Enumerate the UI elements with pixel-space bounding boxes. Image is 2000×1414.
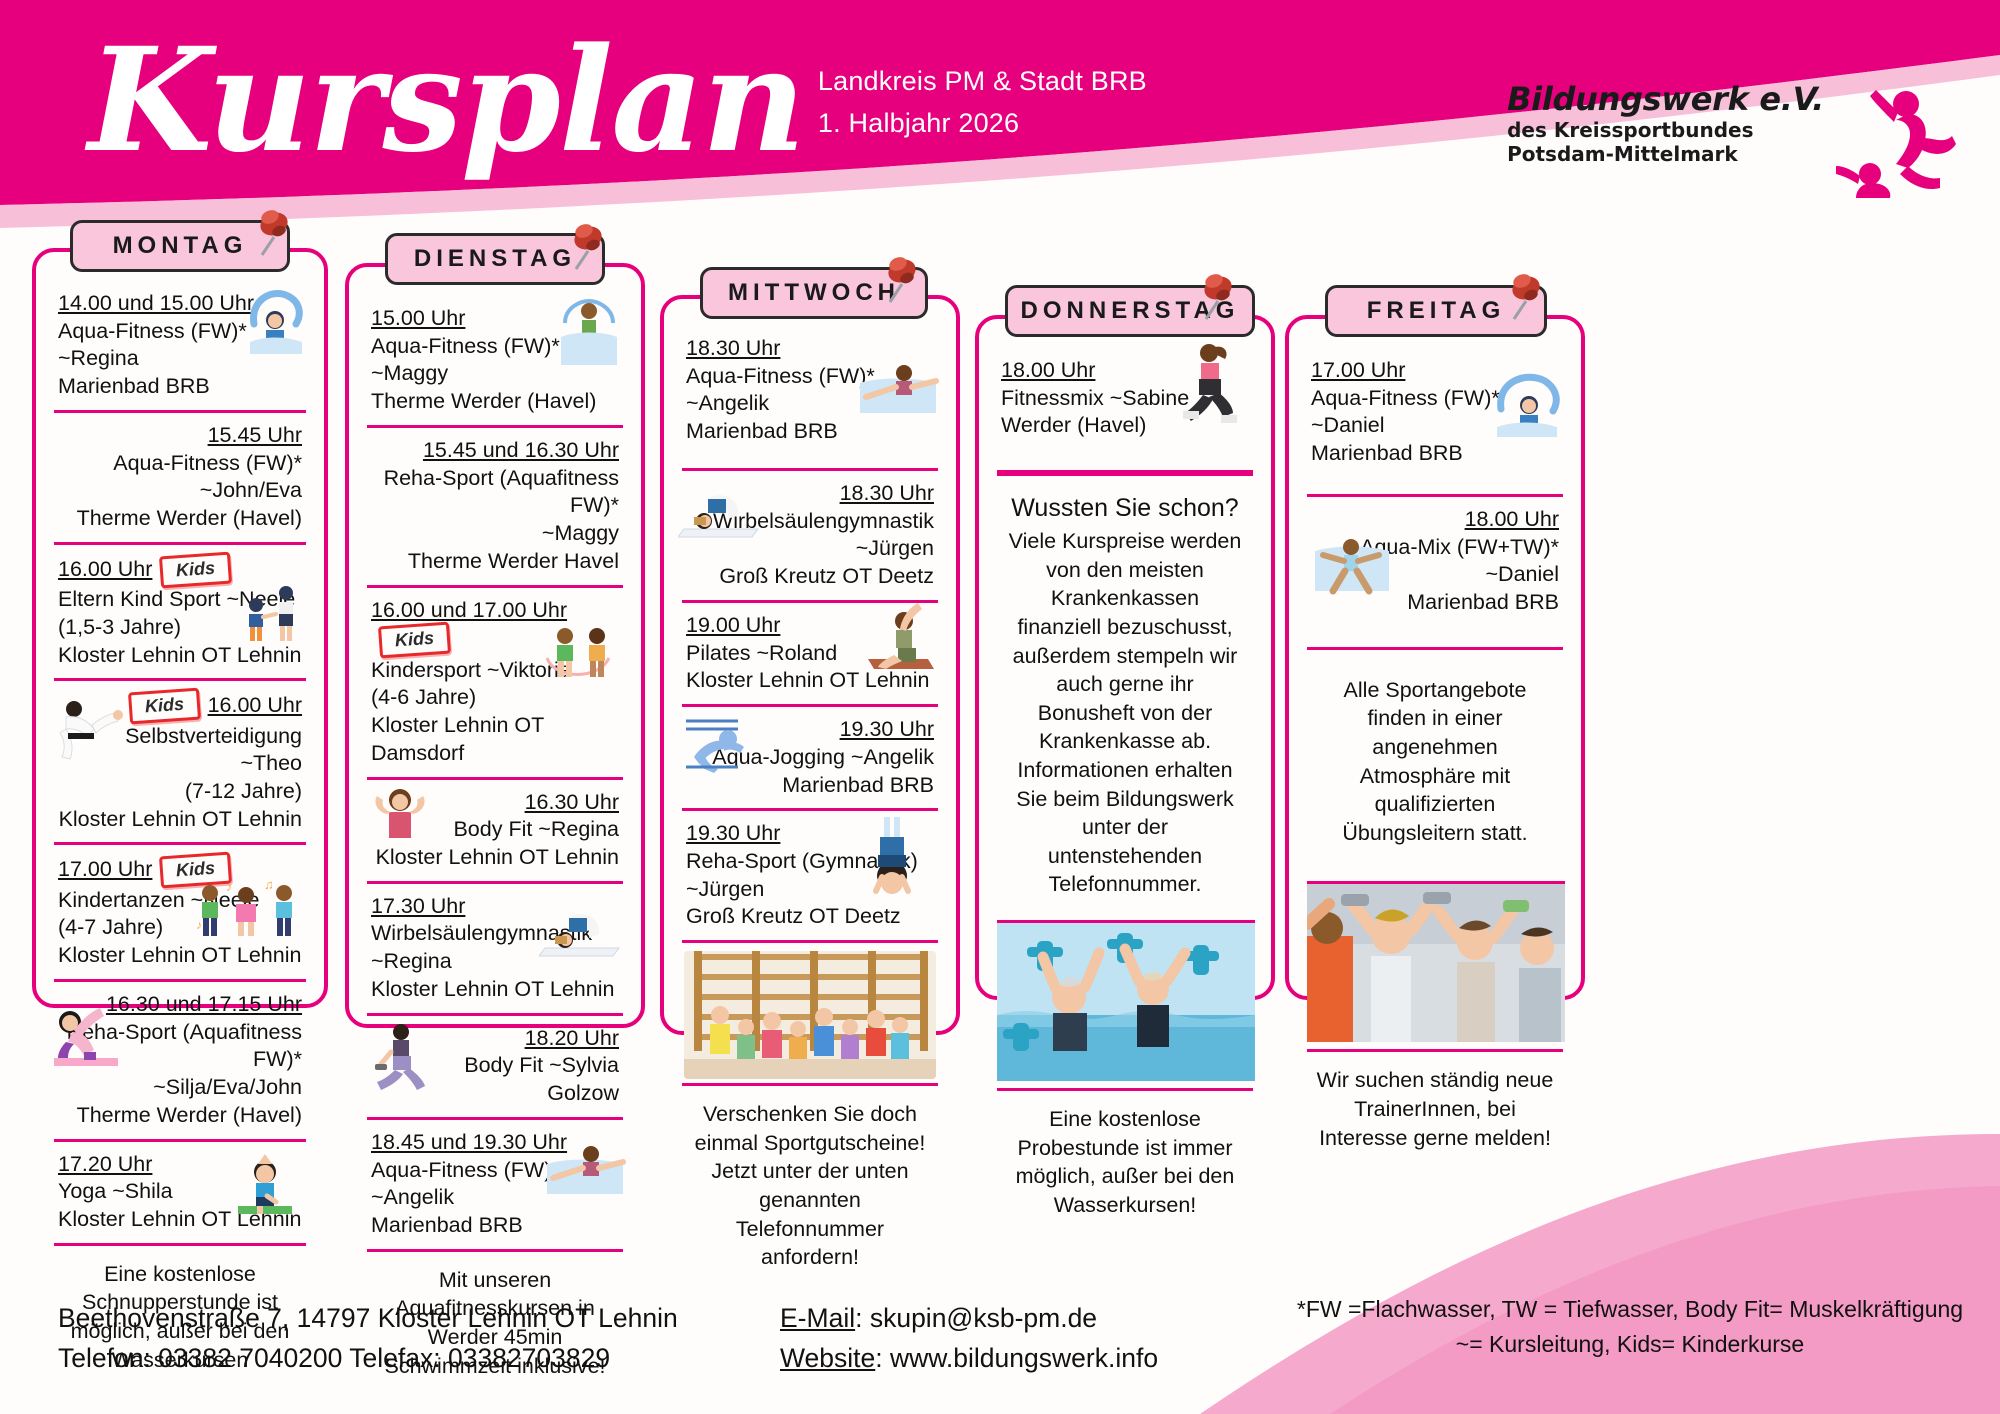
pushpin-icon	[562, 217, 608, 278]
day-column-dienstag: 15.00 Uhr Aqua-Fitness (FW)* ~Maggy Ther…	[345, 263, 645, 1028]
footer-email-row[interactable]: E-Mail: skupin@ksb-pm.de	[780, 1298, 1158, 1338]
subtitle-region: Landkreis PM & Stadt BRB	[818, 61, 1147, 103]
course-location: Kloster Lehnin OT Lehnin	[686, 667, 934, 695]
subtitle-term: 1. Halbjahr 2026	[818, 103, 1147, 145]
course-location: Groß Kreutz OT Deetz	[686, 903, 934, 931]
logo-text: Bildungswerk e.V. des Kreissportbundes P…	[1507, 78, 1824, 166]
course-name: Reha-Sport (Aquafitness FW)*	[371, 465, 619, 520]
day-column-freitag: 17.00 Uhr Aqua-Fitness (FW)* ~Daniel Mar…	[1285, 315, 1585, 1000]
course-time: 18.30 Uhr	[686, 335, 780, 363]
course-slot[interactable]: 17.00 UhrKids Kindertanzen ~Neele (4-7 J…	[54, 845, 306, 981]
course-slot[interactable]: 16.00 UhrKids Eltern Kind Sport ~Neele (…	[54, 545, 306, 681]
course-time: 17.30 Uhr	[371, 893, 465, 921]
course-name: Eltern Kind Sport ~Neele	[58, 586, 302, 614]
course-slot[interactable]: 19.30 Uhr Reha-Sport (Gymnastik) ~Jürgen…	[682, 811, 938, 943]
course-age: (4-6 Jahre)	[371, 684, 619, 712]
kids-badge: Kids	[128, 688, 201, 725]
course-slot[interactable]: 19.30 Uhr Aqua-Jogging ~Angelik Marienba…	[682, 707, 938, 811]
course-name: Aqua-Fitness (FW)* ~Maggy	[371, 333, 619, 388]
course-slot[interactable]: Kids16.00 Uhr Selbstverteidigung ~Theo (…	[54, 681, 306, 845]
footer-address: Beethovenstraße 7, 14797 Kloster Lehnin …	[58, 1298, 678, 1338]
footer-email-label: E-Mail	[780, 1303, 855, 1333]
course-slot[interactable]: 18.30 Uhr Wirbelsäulengymnastik ~Jürgen …	[682, 471, 938, 603]
pushpin-icon	[876, 250, 922, 311]
title-block: Kursplan Landkreis PM & Stadt BRB 1. Hal…	[88, 34, 1147, 167]
course-time: 14.00 und 15.00 Uhr	[58, 290, 254, 318]
course-name: Aqua-Fitness (FW)* ~Daniel	[1311, 385, 1559, 440]
day-column-mittwoch: 18.30 Uhr Aqua-Fitness (FW)* ~Angelik Ma…	[660, 295, 960, 1035]
kids-badge: Kids	[159, 852, 232, 889]
course-location: Kloster Lehnin OT Lehnin	[58, 942, 302, 970]
course-location: Marienbad BRB	[686, 418, 934, 446]
course-location: Marienbad BRB	[1311, 589, 1559, 617]
course-slot[interactable]: 17.30 Uhr Wirbelsäulengymnastik ~Regina …	[367, 884, 623, 1016]
course-time: 16.00 Uhr	[208, 692, 302, 720]
footer-website-value: www.bildungswerk.info	[890, 1343, 1158, 1373]
course-name: Aqua-Fitness (FW)* ~John/Eva	[58, 450, 302, 505]
footer-legend: *FW =Flachwasser, TW = Tiefwasser, Body …	[1290, 1292, 1970, 1361]
course-location: Therme Werder Havel	[371, 548, 619, 576]
course-location: Marienbad BRB	[1311, 440, 1559, 468]
organization-logo: Bildungswerk e.V. des Kreissportbundes P…	[1507, 78, 1960, 203]
course-location: Marienbad BRB	[58, 373, 302, 401]
pushpin-icon	[248, 203, 294, 264]
legend-line-1: *FW =Flachwasser, TW = Tiefwasser, Body …	[1290, 1292, 1970, 1327]
course-name: Wirbelsäulengymnastik	[686, 508, 934, 536]
kids-badge: Kids	[159, 551, 232, 588]
logo-sub2: Potsdam-Mittelmark	[1507, 142, 1824, 166]
info-block: Wussten Sie schon? Viele Kurspreise werd…	[997, 473, 1253, 914]
course-trainer: ~Maggy	[371, 520, 619, 548]
course-trainer: ~Regina	[371, 948, 619, 976]
course-age: (4-7 Jahre)	[58, 914, 302, 942]
day-tab-label: MITTWOCH	[728, 279, 900, 307]
course-name: Fitnessmix ~Sabine	[1001, 385, 1249, 413]
course-time: 19.00 Uhr	[686, 612, 780, 640]
day-tab-label: FREITAG	[1367, 297, 1506, 325]
course-time: 15.45 und 16.30 Uhr	[423, 437, 619, 465]
footer-contact-block: E-Mail: skupin@ksb-pm.de Website: www.bi…	[780, 1298, 1158, 1379]
info-text: Viele Kurspreise werden von den meisten …	[1001, 525, 1249, 905]
course-location: Groß Kreutz OT Deetz	[686, 563, 934, 591]
course-name: Aqua-Fitness (FW)* ~Regina	[58, 318, 302, 373]
course-name: Aqua-Mix (FW+TW)* ~Daniel	[1311, 534, 1559, 589]
course-time: 19.30 Uhr	[840, 716, 934, 744]
course-location: Werder (Havel)	[1001, 412, 1249, 440]
course-age: (7-12 Jahre)	[58, 778, 302, 806]
course-slot[interactable]: 17.00 Uhr Aqua-Fitness (FW)* ~Daniel Mar…	[1307, 341, 1563, 497]
course-name: Reha-Sport (Gymnastik)	[686, 848, 934, 876]
course-location: Therme Werder (Havel)	[371, 388, 619, 416]
course-slot[interactable]: 18.00 Uhr Fitnessmix ~Sabine Werder (Hav…	[997, 341, 1253, 473]
course-time: 16.00 und 17.00 Uhr	[371, 597, 567, 625]
course-age: (1,5-3 Jahre)	[58, 614, 302, 642]
logo-name: Bildungswerk e.V.	[1507, 82, 1824, 118]
course-time: 16.30 Uhr	[525, 789, 619, 817]
course-location: Kloster Lehnin OT Lehnin	[58, 642, 302, 670]
course-slot[interactable]: 15.00 Uhr Aqua-Fitness (FW)* ~Maggy Ther…	[367, 289, 623, 428]
course-time: 17.00 Uhr	[58, 856, 152, 884]
course-name: Selbstverteidigung ~Theo	[58, 723, 302, 778]
pushpin-icon	[1192, 267, 1238, 328]
footer-website-row[interactable]: Website: www.bildungswerk.info	[780, 1338, 1158, 1378]
kids-badge: Kids	[378, 622, 451, 659]
course-slot[interactable]: 16.00 und 17.00 UhrKids Kindersport ~Vik…	[367, 588, 623, 780]
course-location: Kloster Lehnin OT Lehnin	[371, 976, 619, 1004]
course-slot[interactable]: 18.00 Uhr Aqua-Mix (FW+TW)* ~Daniel Mari…	[1307, 497, 1563, 650]
footer-address-block: Beethovenstraße 7, 14797 Kloster Lehnin …	[58, 1298, 678, 1379]
course-slot[interactable]: 19.00 Uhr Pilates ~Roland Kloster Lehnin…	[682, 603, 938, 707]
course-location: Marienbad BRB	[686, 772, 934, 800]
course-location: Therme Werder (Havel)	[58, 505, 302, 533]
day-column-montag: 14.00 und 15.00 Uhr Aqua-Fitness (FW)* ~…	[32, 248, 328, 1008]
course-location: Kloster Lehnin OT Lehnin	[58, 806, 302, 834]
course-time: 15.00 Uhr	[371, 305, 465, 333]
course-slot[interactable]: 14.00 und 15.00 Uhr Aqua-Fitness (FW)* ~…	[54, 274, 306, 413]
course-name: Pilates ~Roland	[686, 640, 934, 668]
gymnast-silhouette-icon	[1830, 78, 1960, 203]
footer-website-label: Website	[780, 1343, 875, 1373]
course-time: 18.00 Uhr	[1465, 506, 1559, 534]
course-trainer: ~Jürgen	[686, 535, 934, 563]
day-column-donnerstag: 18.00 Uhr Fitnessmix ~Sabine Werder (Hav…	[975, 315, 1275, 1000]
course-slot[interactable]: 16.30 Uhr Body Fit ~Regina Kloster Lehni…	[367, 780, 623, 884]
course-slot[interactable]: 15.45 und 16.30 Uhr Reha-Sport (Aquafitn…	[367, 428, 623, 588]
footer-phone: Telefon: 03382 7040200 Telefax: 03382703…	[58, 1338, 678, 1378]
course-name: Wirbelsäulengymnastik	[371, 920, 619, 948]
course-time: 15.45 Uhr	[208, 422, 302, 450]
course-time: 19.30 Uhr	[686, 820, 780, 848]
course-time: 18.30 Uhr	[840, 480, 934, 508]
course-trainer: ~Jürgen	[686, 876, 934, 904]
course-name: Aqua-Fitness (FW)* ~Angelik	[686, 363, 934, 418]
day-tab-label: MONTAG	[113, 232, 248, 260]
course-location: Kloster Lehnin OT Lehnin	[371, 844, 619, 872]
legend-line-2: ~= Kursleitung, Kids= Kinderkurse	[1290, 1327, 1970, 1362]
course-name: Aqua-Jogging ~Angelik	[686, 744, 934, 772]
page-title: Kursplan	[88, 34, 804, 167]
course-name: Body Fit ~Regina	[371, 816, 619, 844]
logo-sub1: des Kreissportbundes	[1507, 118, 1824, 142]
pushpin-icon	[1500, 267, 1546, 328]
info-headline: Wussten Sie schon?	[1001, 494, 1249, 523]
course-slot[interactable]: 18.30 Uhr Aqua-Fitness (FW)* ~Angelik Ma…	[682, 321, 938, 471]
subtitle-block: Landkreis PM & Stadt BRB 1. Halbjahr 202…	[818, 61, 1147, 145]
day-tab-label: DIENSTAG	[414, 245, 576, 273]
course-slot[interactable]: 15.45 Uhr Aqua-Fitness (FW)* ~John/Eva T…	[54, 413, 306, 545]
footer-email-value: skupin@ksb-pm.de	[870, 1303, 1097, 1333]
course-location: Kloster Lehnin OT Damsdorf	[371, 712, 619, 767]
course-name: Kindertanzen ~Neele	[58, 887, 302, 915]
course-name: Kindersport ~Viktoria	[371, 657, 619, 685]
course-time: 18.00 Uhr	[1001, 357, 1095, 385]
info-text: Alle Sportangebote finden in einer angen…	[1307, 650, 1563, 874]
course-time: 17.00 Uhr	[1311, 357, 1405, 385]
course-time: 16.00 Uhr	[58, 556, 152, 584]
